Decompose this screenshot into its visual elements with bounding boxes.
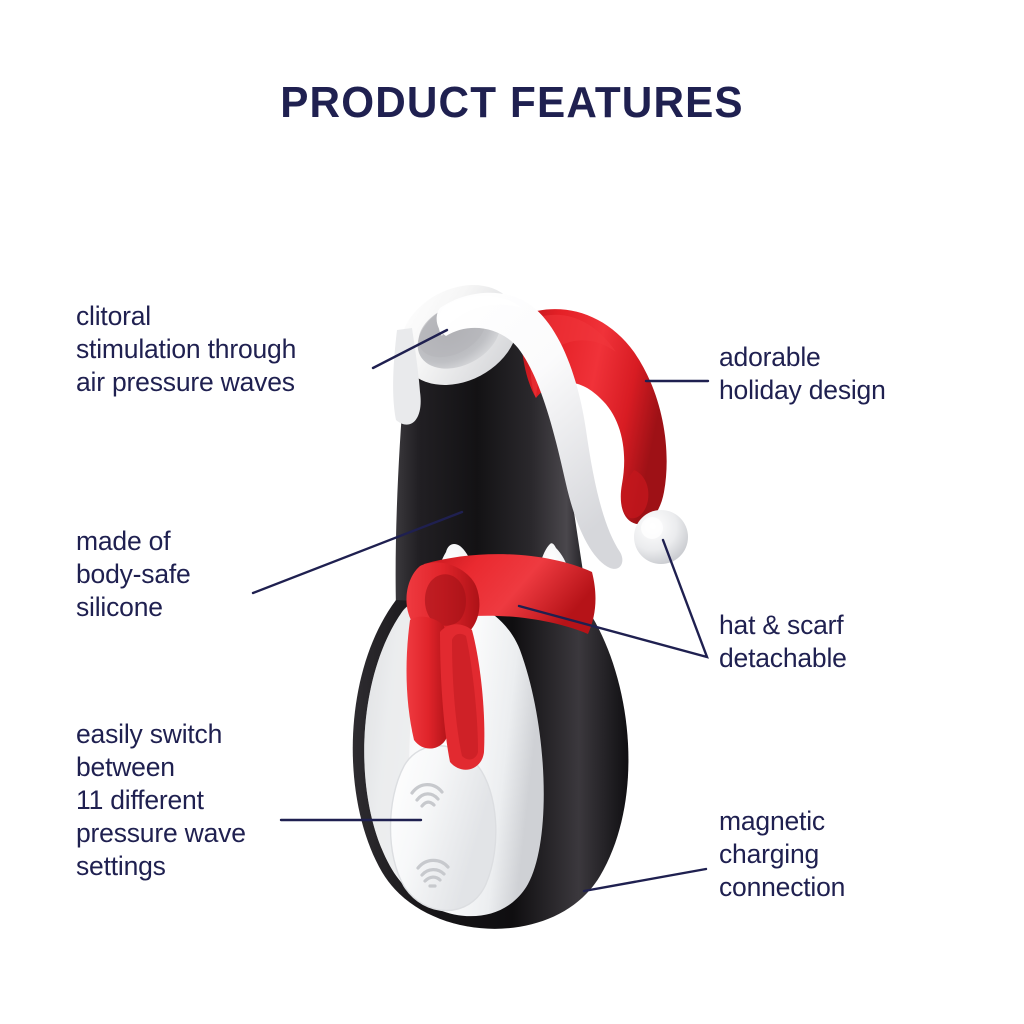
callout-magnetic-charging: magnetic charging connection: [719, 805, 939, 904]
leader-line-magnetic: [584, 869, 706, 891]
red-scarf: [406, 554, 595, 770]
hat-pom-pom: [634, 510, 688, 564]
leader-line-detachable: [519, 540, 707, 657]
hat-fur-trim: [437, 293, 623, 569]
control-panel: [391, 746, 496, 911]
product-lower-bulb: [353, 600, 629, 929]
leader-line-clitoral: [373, 330, 447, 368]
callout-hat-scarf-detachable: hat & scarf detachable: [719, 609, 949, 675]
callout-body-safe-silicone: made of body-safe silicone: [76, 525, 316, 624]
intensity-button-icon: [412, 785, 442, 806]
nozzle-head: [383, 265, 536, 404]
nozzle-collar: [393, 328, 421, 425]
page-title: PRODUCT FEATURES: [20, 78, 1003, 128]
santa-hat: [520, 309, 667, 524]
product-wings: [437, 543, 572, 614]
product-black-body: [396, 308, 590, 618]
callout-holiday-design: adorable holiday design: [719, 341, 989, 407]
pressure-wave-button-icon: [418, 860, 448, 886]
callout-clitoral-stimulation: clitoral stimulation through air pressur…: [76, 300, 376, 399]
callout-pressure-wave-settings: easily switch between 11 different press…: [76, 718, 336, 883]
product-white-belly: [364, 596, 544, 916]
feature-diagram-canvas: PRODUCT FEATURES: [0, 0, 1024, 1024]
